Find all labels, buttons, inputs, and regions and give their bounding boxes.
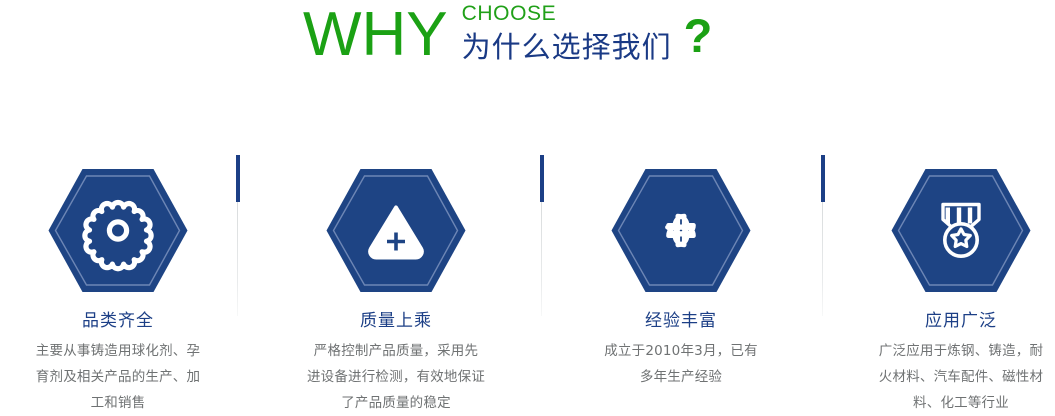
card-body: 主要从事铸造用球化剂、孕 育剂及相关产品的生产、加 工和销售	[10, 338, 226, 416]
column-divider-3	[821, 155, 825, 316]
feature-column-1[interactable]: 品类齐全 主要从事铸造用球化剂、孕 育剂及相关产品的生产、加 工和销售	[0, 140, 236, 416]
divider-line	[237, 202, 238, 316]
card-body-line: 多年生产经验	[573, 364, 789, 390]
hexagon-badge-3	[611, 168, 752, 293]
heading-why: WHY	[303, 0, 448, 70]
card-title: 质量上乘	[278, 310, 514, 332]
card-body: 广泛应用于炼钢、铸造，耐 火材料、汽车配件、磁性材 料、化工等行业	[853, 338, 1055, 416]
section-heading: WHY CHOOSE 为什么选择我们 ?	[0, 0, 1055, 92]
hexagon-badge-2	[326, 168, 467, 293]
card-body: 严格控制产品质量，采用先 进设备进行检测，有效地保证 了产品质量的稳定	[288, 338, 504, 416]
card-body-line: 工和销售	[10, 390, 226, 416]
card-title: 品类齐全	[0, 310, 236, 332]
card-title: 应用广泛	[843, 310, 1055, 332]
gear-icon	[48, 168, 189, 293]
card-body-line: 料、化工等行业	[853, 390, 1055, 416]
heading-question-mark: ?	[684, 10, 713, 70]
heading-choose: CHOOSE	[462, 2, 672, 26]
card-body-line: 广泛应用于炼钢、铸造，耐	[853, 338, 1055, 364]
heading-text-stack: CHOOSE 为什么选择我们	[462, 0, 672, 66]
divider-line	[541, 202, 542, 316]
card-body-line: 成立于2010年3月，已有	[573, 338, 789, 364]
feature-column-3[interactable]: 经验丰富 成立于2010年3月，已有 多年生产经验	[563, 140, 799, 416]
card-body-line: 育剂及相关产品的生产、加	[10, 364, 226, 390]
divider-accent	[821, 155, 825, 202]
triangle-plus-icon	[326, 168, 467, 293]
hexagon-badge-4	[891, 168, 1032, 293]
card-body-line: 主要从事铸造用球化剂、孕	[10, 338, 226, 364]
card-body-line: 火材料、汽车配件、磁性材	[853, 364, 1055, 390]
medal-star-icon	[891, 168, 1032, 293]
why-choose-us-section: WHY CHOOSE 为什么选择我们 ?	[0, 0, 1055, 416]
feature-column-2[interactable]: 质量上乘 严格控制产品质量，采用先 进设备进行检测，有效地保证 了产品质量的稳定	[278, 140, 514, 416]
hexagon-badge-1	[48, 168, 189, 293]
column-divider-1	[236, 155, 240, 316]
card-body: 成立于2010年3月，已有 多年生产经验	[573, 338, 789, 390]
divider-accent	[540, 155, 544, 202]
card-body-line: 严格控制产品质量，采用先	[288, 338, 504, 364]
feature-column-4[interactable]: 应用广泛 广泛应用于炼钢、铸造，耐 火材料、汽车配件、磁性材 料、化工等行业	[843, 140, 1055, 416]
divider-accent	[236, 155, 240, 202]
heading-chinese: 为什么选择我们	[462, 28, 672, 66]
clover-icon	[611, 168, 752, 293]
card-title: 经验丰富	[563, 310, 799, 332]
card-body-line: 了产品质量的稳定	[288, 390, 504, 416]
divider-line	[822, 202, 823, 316]
feature-columns: 品类齐全 主要从事铸造用球化剂、孕 育剂及相关产品的生产、加 工和销售	[0, 140, 1055, 416]
card-body-line: 进设备进行检测，有效地保证	[288, 364, 504, 390]
column-divider-2	[540, 155, 544, 316]
